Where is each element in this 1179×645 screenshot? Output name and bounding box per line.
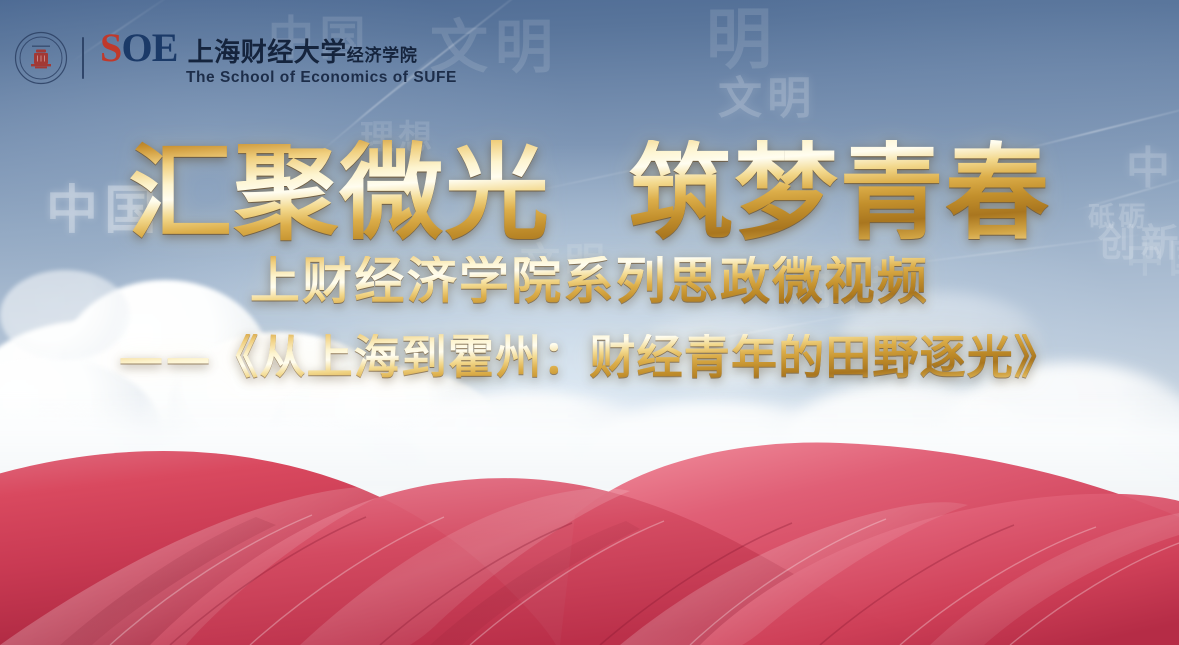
- title-part-1: 汇聚微光: [128, 131, 550, 254]
- school-name-en: The School of Economics of SUFE: [186, 69, 457, 87]
- university-crest-icon: [14, 31, 68, 85]
- video-title-card: 中国文明中国文明明文明理想中砥砺创新中国时代奋进文明: [0, 0, 1179, 645]
- soe-abbreviation: SOE: [100, 30, 178, 67]
- subtitle-episode: ——《从上海到霍州：财经青年的田野逐光》: [0, 334, 1179, 380]
- logo-divider: [82, 37, 84, 79]
- subtitle-series: 上财经济学院系列思政微视频: [0, 256, 1179, 306]
- title-part-2: 筑梦青春: [629, 131, 1051, 254]
- soe-letter-s: S: [100, 25, 121, 70]
- sufe-wordmark: SOE 上海财经大学经济学院 The School of Economics o…: [100, 30, 457, 87]
- school-name-cn: 上海财经大学经济学院: [188, 40, 418, 67]
- sufe-logo-bar[interactable]: SOE 上海财经大学经济学院 The School of Economics o…: [14, 30, 457, 87]
- page-title: 汇聚微光筑梦青春: [0, 140, 1179, 246]
- soe-letters-oe: OE: [121, 25, 177, 70]
- red-silk-fabric: [0, 395, 1179, 645]
